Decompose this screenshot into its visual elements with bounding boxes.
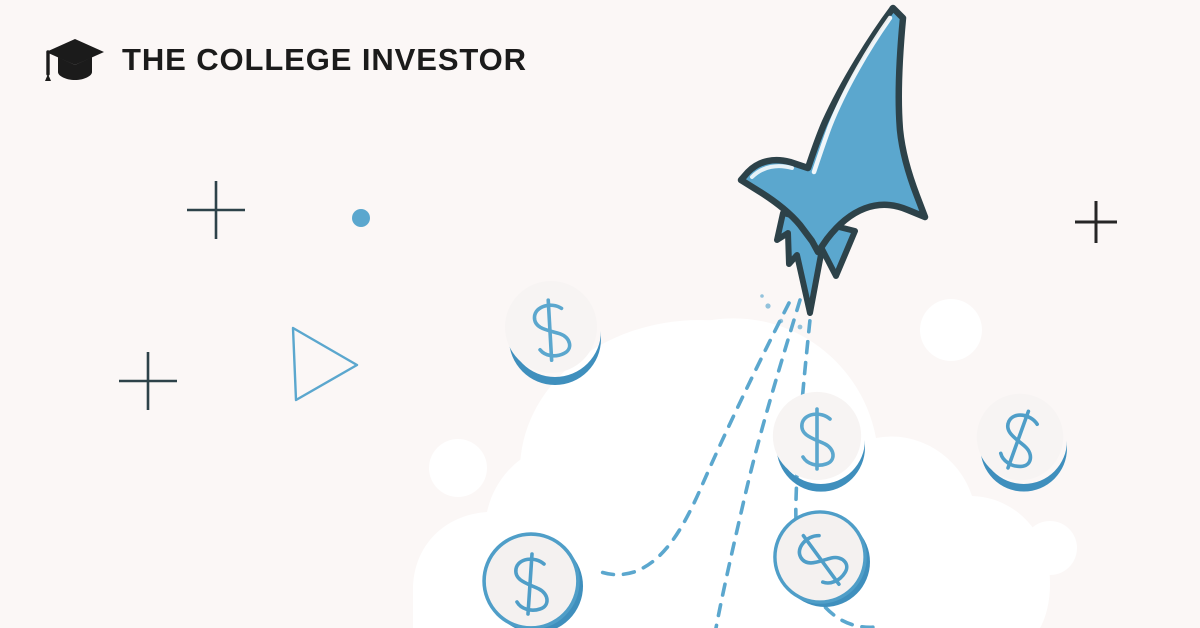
rocket-launch-illustration xyxy=(0,0,1200,628)
brand-name: THE COLLEGE INVESTOR xyxy=(122,44,527,75)
cloud-puff-left xyxy=(429,439,487,497)
dot-mark xyxy=(352,209,370,227)
banner-canvas: THE COLLEGE INVESTOR xyxy=(0,0,1200,628)
brand-lockup: THE COLLEGE INVESTOR xyxy=(44,36,527,82)
cloud-puff-top-right xyxy=(920,299,982,361)
cloud-puff-bottom-right xyxy=(1023,521,1077,575)
graduation-cap-icon xyxy=(44,36,106,82)
